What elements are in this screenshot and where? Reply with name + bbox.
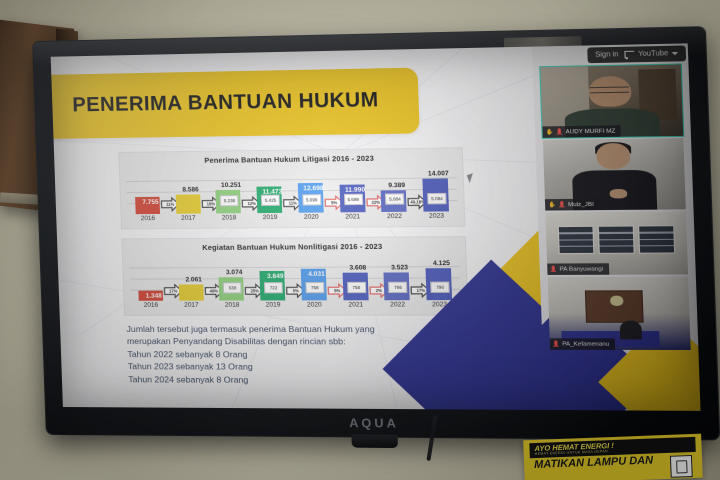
photo-scene: PENERIMA BANTUAN HUKUM Penerima Bantuan … (0, 0, 720, 480)
room-lighting (0, 0, 720, 480)
